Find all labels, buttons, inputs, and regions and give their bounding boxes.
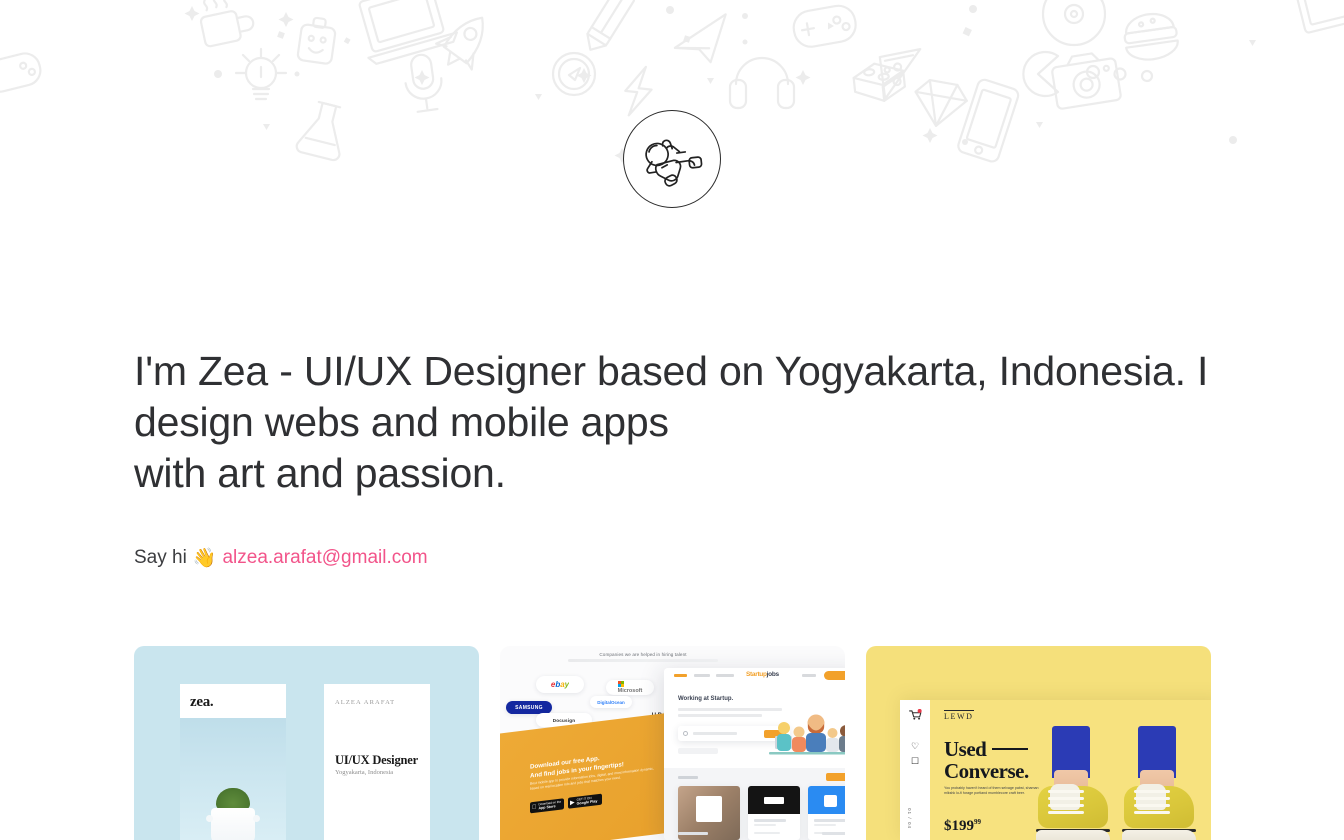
contact-line: Say hi 👋 alzea.arafat@gmail.com — [134, 545, 1210, 571]
right-shoe-icon — [1120, 726, 1198, 840]
site-hero: Working at Startup. — [664, 684, 845, 768]
logo-chip-digitalocean: DigitalOcean — [590, 696, 632, 708]
left-shoe-icon — [1034, 726, 1112, 840]
lightbulb-icon — [236, 49, 286, 99]
project-card-zea-branding[interactable]: zea. ALZEA ARAFAT UI/UX Designer Yogyaka… — [134, 646, 479, 840]
game-controller-icon — [791, 3, 858, 49]
person-role: UI/UX Designer — [335, 753, 418, 768]
site-logo-text: Startupjobs — [746, 671, 779, 678]
page-title: I'm Zea - UI/UX Designer based on Yogyak… — [134, 346, 1210, 499]
laptop-icon — [1296, 0, 1344, 33]
game-controller-icon — [0, 50, 44, 95]
advanced-search-toggle[interactable] — [678, 748, 718, 754]
laptop-icon — [353, 0, 459, 66]
nav-post-job-button[interactable] — [824, 671, 845, 680]
project-card-startupjobs[interactable]: Companies we are helped in hiring talent… — [500, 646, 845, 840]
zea-card-photo — [180, 718, 286, 840]
heart-icon[interactable]: ♡ — [911, 742, 919, 751]
astronaut-logo-icon — [623, 110, 721, 208]
microphone-icon — [402, 52, 445, 112]
shop-side-rail: ♡ ☐ 01 / 04 — [900, 700, 930, 840]
shop-brand-logo: LEWD — [944, 710, 974, 721]
burger-icon — [1122, 11, 1180, 63]
search-icon — [683, 731, 688, 736]
coffee-mug-icon — [197, 0, 257, 47]
featured-label — [678, 776, 698, 779]
site-logo[interactable] — [623, 110, 721, 208]
nav-signin[interactable] — [802, 674, 816, 677]
converse-shop-mockup: ♡ ☐ 01 / 04 LEWD Used Converse. You prob… — [900, 700, 1211, 840]
site-navbar: Startupjobs — [664, 668, 845, 684]
headline-line-3: with art and passion. — [134, 448, 1210, 499]
paper-plane-icon — [672, 14, 731, 65]
footer-left-link[interactable] — [678, 832, 708, 835]
compass-icon — [553, 53, 595, 95]
diamond-icon — [910, 78, 969, 130]
product-title: Used Converse. — [944, 738, 1029, 782]
person-location: Yogyakarta, Indonesia — [335, 769, 393, 776]
pencil-icon — [581, 0, 635, 56]
rocket-icon — [430, 5, 500, 78]
lego-brick-icon — [852, 61, 906, 104]
confetti-dots-icon — [214, 5, 1256, 145]
featured-section — [664, 768, 845, 840]
product-price: $19999 — [944, 818, 981, 835]
person-name: ALZEA ARAFAT — [335, 699, 395, 706]
project-cards-row: zea. ALZEA ARAFAT UI/UX Designer Yogyaka… — [134, 646, 1210, 840]
zea-brand-mark: zea. — [190, 694, 213, 711]
portfolio-page: I'm Zea - UI/UX Designer based on Yogyak… — [0, 0, 1344, 840]
logo-chip-microsoft: Microsoft — [606, 680, 654, 695]
lego-head-icon — [297, 16, 337, 64]
project-card-used-converse[interactable]: ♡ ☐ 01 / 04 LEWD Used Converse. You prob… — [866, 646, 1211, 840]
zea-brand-card: zea. — [180, 684, 286, 840]
smartphone-icon — [957, 78, 1020, 163]
site-hero-heading: Working at Startup. — [678, 696, 733, 702]
startupjobs-site-mockup: Startupjobs Working at Startup. — [664, 668, 845, 840]
apple-icon:  — [532, 804, 537, 811]
featured-tile-2[interactable] — [748, 786, 800, 840]
logo-chip-ebay: ebay — [536, 676, 584, 693]
pacman-dots-icon — [1087, 66, 1152, 81]
headline-line-2: design webs and mobile apps — [134, 399, 669, 445]
camera-icon — [1050, 50, 1121, 109]
succulent-plant-icon — [207, 788, 259, 840]
email-link[interactable]: alzea.arafat@gmail.com — [222, 545, 427, 571]
cd-disc-icon — [1043, 0, 1105, 45]
see-more-button[interactable] — [826, 773, 845, 781]
pacman-icon — [1023, 52, 1058, 96]
star-icon — [185, 6, 938, 163]
headphones-icon — [730, 58, 794, 108]
footer-right-link[interactable] — [822, 832, 845, 835]
contact-prefix-label: Say hi — [134, 545, 187, 571]
nav-home[interactable] — [674, 674, 687, 677]
headline-line-1: I'm Zea - UI/UX Designer based on Yogyak… — [134, 348, 1208, 394]
hero-section: I'm Zea - UI/UX Designer based on Yogyak… — [134, 346, 1210, 571]
team-illustration-icon — [766, 706, 845, 768]
flask-icon — [295, 99, 350, 161]
pizza-icon — [868, 38, 920, 104]
shop-pager: 01 / 04 — [907, 808, 912, 829]
cart-icon[interactable] — [909, 709, 922, 720]
zea-info-card: ALZEA ARAFAT UI/UX Designer Yogyakarta, … — [324, 684, 430, 840]
nav-company[interactable] — [716, 674, 734, 677]
waving-hand-icon: 👋 — [193, 549, 217, 568]
companies-subheading-bar — [568, 659, 718, 662]
converse-shoes-photo — [1024, 700, 1211, 840]
nav-browse[interactable] — [694, 674, 710, 677]
bookmark-icon[interactable]: ☐ — [911, 757, 919, 766]
play-triangle-icon: ▶ — [570, 799, 575, 806]
companies-heading: Companies we are helped in hiring talent — [548, 652, 738, 657]
